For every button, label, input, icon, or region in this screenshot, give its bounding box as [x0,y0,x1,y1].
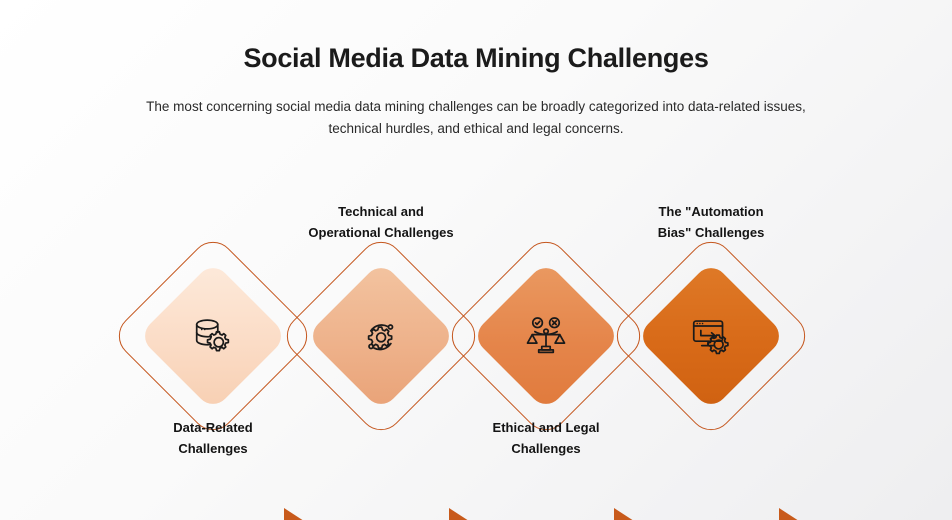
arrow-right-icon-3 [614,508,634,520]
process-flow-diagram: Data-Related Challenges Technical and Op [0,186,952,486]
monitor-gear-icon [685,310,737,362]
flow-node-label-4-line2: Bias" Challenges [596,223,826,244]
balance-scale-icon [520,310,572,362]
flow-node-automation-bias[interactable]: The "Automation Bias" Challenges [611,186,811,486]
gear-orbit-icon [355,310,407,362]
arrow-right-icon-4 [779,508,799,520]
arrow-right-icon-1 [284,508,304,520]
arrow-right-icon-2 [449,508,469,520]
page-subtitle: The most concerning social media data mi… [126,96,826,140]
page-title: Social Media Data Mining Challenges [0,42,952,74]
flow-node-label-4-line1: The "Automation [596,202,826,223]
infographic-header: Social Media Data Mining Challenges The … [0,0,952,140]
flow-node-label-4: The "Automation Bias" Challenges [596,202,826,243]
database-gear-icon [187,310,239,362]
